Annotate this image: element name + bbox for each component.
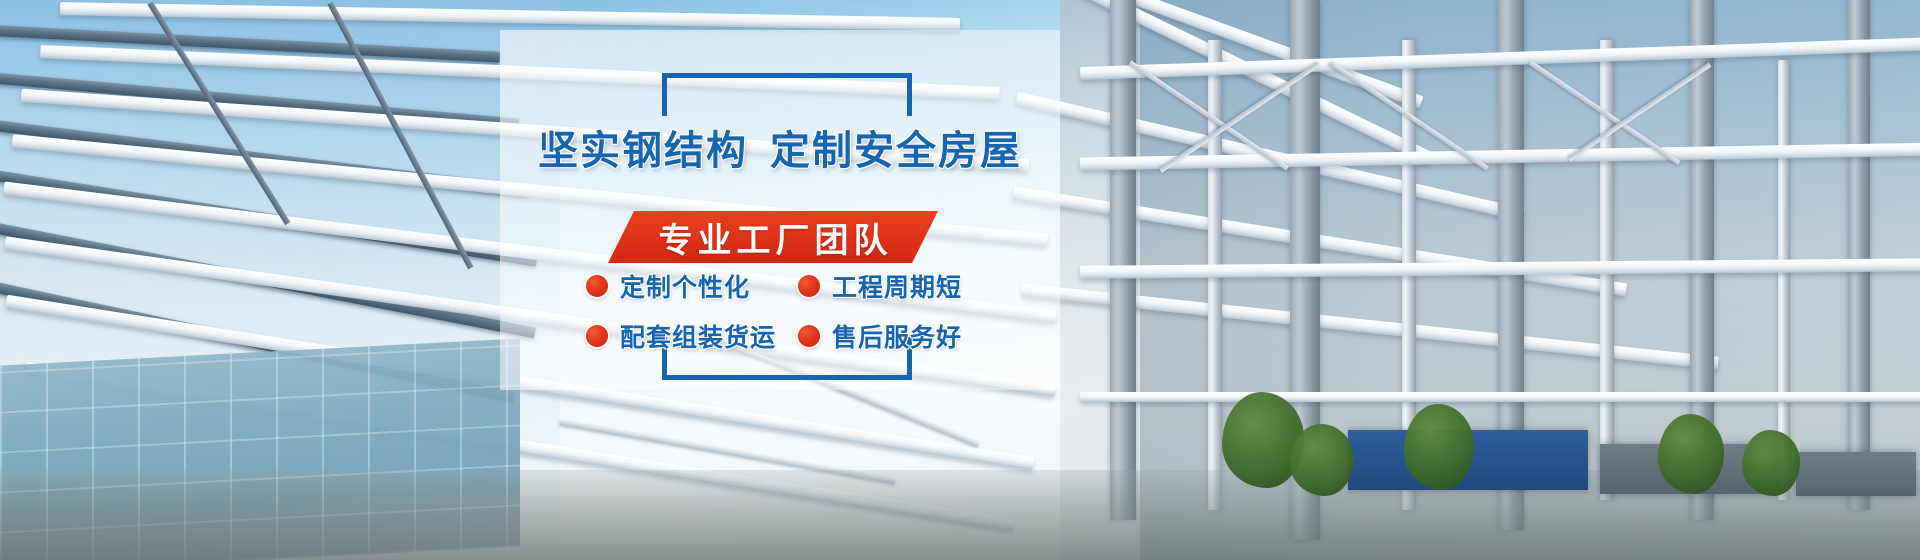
red-ribbon-banner: 专业工厂团队 [608,211,938,263]
feature-label: 售后服务好 [832,318,962,354]
tree [1658,414,1724,494]
feature-item: 配套组装货运 [586,318,798,354]
feature-label: 定制个性化 [620,268,750,304]
tree [1404,404,1474,490]
feature-label: 工程周期短 [832,268,962,304]
feature-item: 定制个性化 [586,268,798,304]
red-dot-icon [586,325,608,347]
tree [1742,430,1800,496]
hero-banner: 坚实钢结构定制安全房屋 专业工厂团队 定制个性化 工程周期短 配套组装货运 售后… [0,0,1920,560]
bracket-top-decoration [662,73,912,116]
feature-list: 定制个性化 工程周期短 配套组装货运 售后服务好 [586,268,1006,354]
red-dot-icon [798,275,820,297]
ribbon-label: 专业工厂团队 [654,213,893,262]
headline-part-2: 定制安全房屋 [770,128,1022,174]
distant-building [1796,452,1916,496]
feature-item: 工程周期短 [798,268,1006,304]
feature-item: 售后服务好 [798,318,1006,354]
steel-girder [1080,392,1920,402]
red-dot-icon [586,275,608,297]
steel-column [1848,0,1870,510]
red-dot-icon [798,325,820,347]
headline-part-1: 坚实钢结构 [538,128,748,174]
tree [1290,424,1354,496]
headline: 坚实钢结构定制安全房屋 [500,118,1060,176]
feature-label: 配套组装货运 [620,318,776,354]
